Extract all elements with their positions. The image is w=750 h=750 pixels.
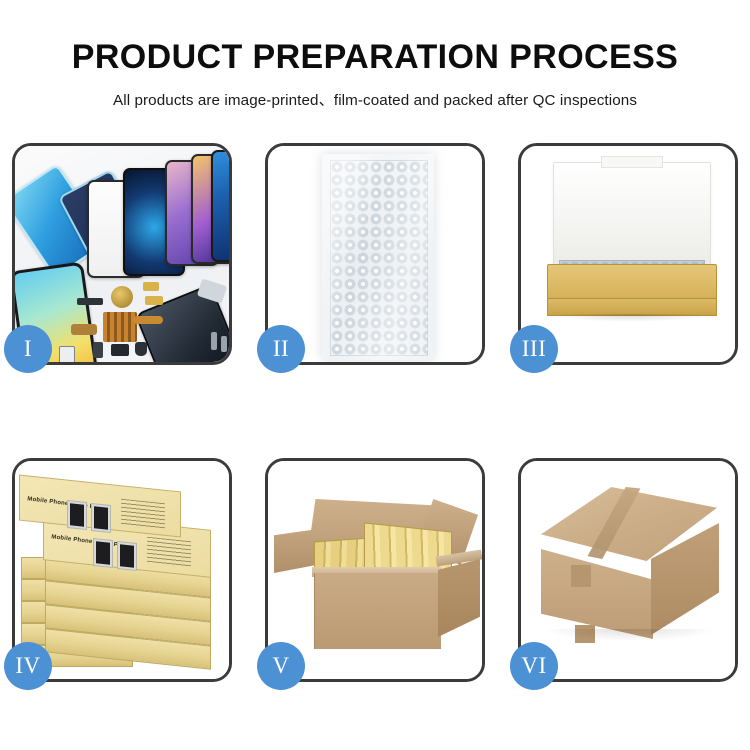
step-panel-5: V	[265, 458, 485, 682]
step-panel-4: Mobile Phone Spare Parts Mobile Phone Sp…	[12, 458, 232, 682]
bubble-wrap-image	[268, 146, 482, 362]
carton-front-face	[314, 573, 441, 649]
antenna-cable-part-icon	[133, 316, 163, 324]
step-badge-4: IV	[4, 642, 52, 690]
bubble-wrap-gloss	[322, 154, 434, 360]
open-carton-image	[268, 461, 482, 679]
speaker-part-icon	[77, 298, 103, 305]
open-kraft-box-image	[521, 146, 735, 362]
box-spec-lines	[147, 537, 191, 568]
step-panel-6: VI	[518, 458, 738, 682]
flex-cable-part-icon	[143, 282, 159, 291]
ribbon-cable-part-icon	[71, 324, 97, 335]
carton-side-face	[438, 559, 480, 637]
vibrator-part-icon	[135, 342, 147, 356]
sim-tray-part-icon	[59, 346, 75, 362]
sealed-carton-image	[521, 461, 735, 679]
box-screen-image	[67, 500, 87, 530]
screwdriver-part-icon	[211, 332, 217, 350]
box-screen-image	[93, 538, 113, 568]
phone-parts-collage-image	[15, 146, 229, 362]
product-preparation-infographic: PRODUCT PREPARATION PROCESS All products…	[0, 0, 750, 750]
page-title: PRODUCT PREPARATION PROCESS	[0, 0, 750, 77]
coil-part-icon	[111, 286, 133, 308]
tweezers-part-icon	[221, 336, 227, 352]
step-panel-1: I	[12, 143, 232, 365]
camera-module-part-icon	[111, 344, 129, 356]
phone-display-edge-icon	[211, 150, 229, 262]
box-lid-tab	[601, 156, 663, 168]
page-subtitle: All products are image-printed、film-coat…	[0, 77, 750, 110]
box-shadow	[551, 314, 711, 322]
button-part-icon	[93, 342, 103, 358]
box-spec-lines	[121, 499, 165, 530]
box-screen-image	[91, 503, 111, 533]
box-screen-image	[117, 541, 137, 571]
carton-shadow	[545, 629, 715, 641]
carton-handle-tab	[571, 565, 591, 587]
step-badge-6: VI	[510, 642, 558, 690]
step-badge-1: I	[4, 325, 52, 373]
box-lid	[553, 162, 711, 268]
carton-front-face	[541, 549, 653, 639]
connector-grid-part-icon	[103, 312, 137, 342]
step-badge-3: III	[510, 325, 558, 373]
step-badge-2: II	[257, 325, 305, 373]
stacked-boxes-image: Mobile Phone Spare Parts Mobile Phone Sp…	[15, 461, 229, 679]
process-steps-grid: I II III	[12, 143, 738, 682]
header: PRODUCT PREPARATION PROCESS All products…	[0, 0, 750, 110]
step-panel-2: II	[265, 143, 485, 365]
step-badge-5: V	[257, 642, 305, 690]
flex-cable-part-2-icon	[145, 296, 163, 305]
box-stack: Mobile Phone Spare Parts Mobile Phone Sp…	[15, 461, 229, 677]
step-panel-3: III	[518, 143, 738, 365]
